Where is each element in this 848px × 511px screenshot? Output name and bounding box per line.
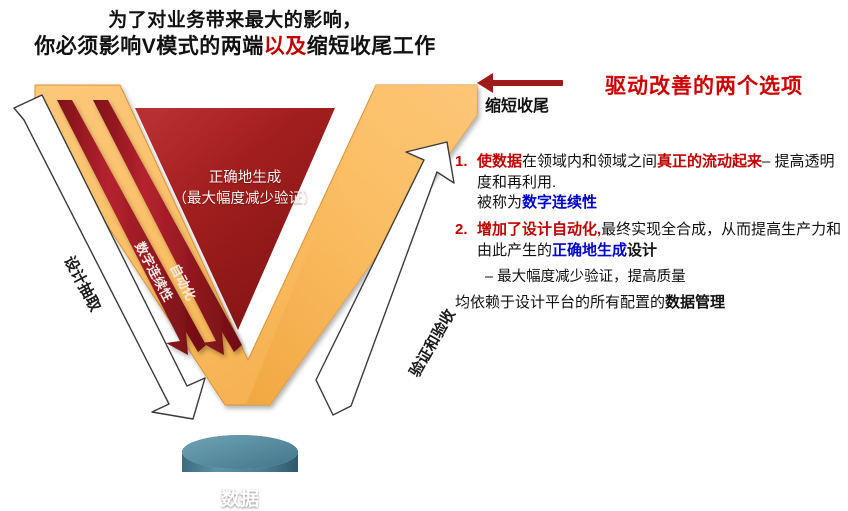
- footer-plain: 均依赖于设计平台的所有配置的: [455, 294, 665, 311]
- v-diagram-svg: [0, 60, 500, 472]
- footer-bold: 数据管理: [665, 294, 725, 311]
- item1-subline: 被称为数字连续性: [477, 193, 848, 214]
- title-line-2-part-a: 你必须影响V模式的两端: [34, 35, 264, 58]
- item2-seg-blue-1: 正确地生成: [552, 242, 627, 259]
- list-item: 1. 使数据在领域内和领域之间真正的流动起来– 提高透明度和再利用. 被称为数字…: [455, 152, 848, 214]
- database-label: 数据: [185, 484, 295, 511]
- item2-seg-red-1: 增加了设计自动化,: [477, 221, 601, 238]
- panel-heading: 驱动改善的两个选项: [560, 70, 848, 100]
- options-panel: 驱动改善的两个选项 1. 使数据在领域内和领域之间真正的流动起来– 提高透明度和…: [455, 70, 848, 314]
- panel-footer-line: 均依赖于设计平台的所有配置的数据管理: [455, 293, 848, 314]
- list-item-body: 增加了设计自动化,最终实现全合成，从而提高生产力和由此产生的正确地生成设计: [477, 220, 848, 261]
- list-item-body: 使数据在领域内和领域之间真正的流动起来– 提高透明度和再利用. 被称为数字连续性: [477, 152, 848, 214]
- item1-sub-blue: 数字连续性: [522, 194, 597, 211]
- options-list: 1. 使数据在领域内和领域之间真正的流动起来– 提高透明度和再利用. 被称为数字…: [455, 152, 848, 314]
- item2-seg-black-2: 设计: [627, 242, 657, 259]
- list-item: 2. 增加了设计自动化,最终实现全合成，从而提高生产力和由此产生的正确地生成设计: [455, 220, 848, 261]
- item1-seg-red-1: 使数据: [477, 153, 522, 170]
- v-model-diagram: 设计抽取 数字连续性 自动化 验证和验收 正确地生成 （最大幅度减少验证） 数据: [0, 60, 500, 472]
- item1-sub-black: 被称为: [477, 194, 522, 211]
- page-title: 为了对业务带来最大的影响， 你必须影响V模式的两端以及缩短收尾工作: [0, 8, 470, 61]
- item1-seg-red-2: 真正的流动起来: [657, 153, 762, 170]
- title-line-2-highlight: 以及: [264, 35, 307, 58]
- panel-dash-line: – 最大幅度减少验证，提高质量: [485, 267, 848, 287]
- database-cylinder: [182, 435, 298, 472]
- title-line-2: 你必须影响V模式的两端以及缩短收尾工作: [0, 33, 470, 61]
- list-item-number: 2.: [455, 220, 477, 261]
- item1-seg-black-1: 在领域内和领域之间: [522, 153, 657, 170]
- title-line-2-part-c: 缩短收尾工作: [307, 35, 436, 58]
- list-item-number: 1.: [455, 152, 477, 214]
- slide-canvas: 为了对业务带来最大的影响， 你必须影响V模式的两端以及缩短收尾工作: [0, 0, 848, 472]
- title-line-1: 为了对业务带来最大的影响，: [0, 8, 470, 33]
